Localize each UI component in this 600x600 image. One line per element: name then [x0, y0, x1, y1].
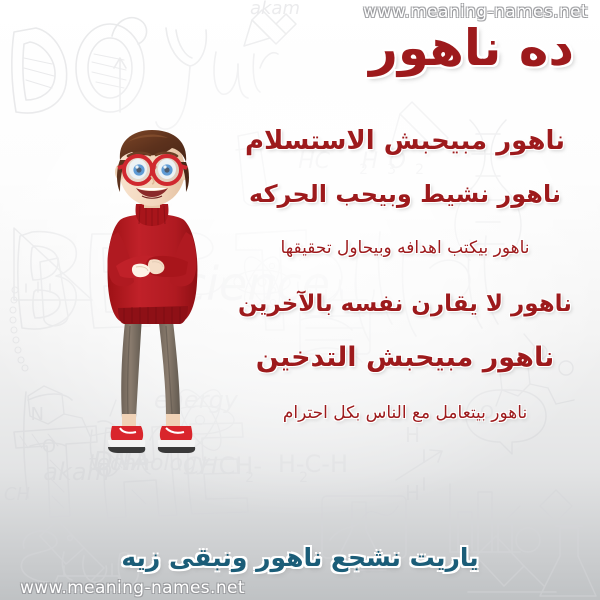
- trait-line: ناهور لا يقارن نفسه بالآخرين: [228, 293, 582, 316]
- boy-character-illustration: [62, 126, 242, 456]
- trait-line: ناهور مبيحبش الاستسلام: [228, 128, 582, 154]
- svg-text:CH: CH: [183, 452, 218, 480]
- footer-wish-text: ياريت نشجع ناهور ونبقى زيه: [0, 543, 600, 572]
- svg-text:H: H: [405, 423, 420, 447]
- svg-text:O: O: [42, 436, 56, 457]
- trait-line: ناهور بيتعامل مع الناس بكل احترام: [228, 405, 582, 422]
- svg-text:H-C-H: H-C-H: [278, 450, 348, 478]
- trait-line: ناهور نشيط وبيحب الحركه: [228, 182, 582, 206]
- svg-text:2: 2: [299, 470, 308, 486]
- trait-line: ناهور مبيحبش التدخين: [228, 344, 582, 371]
- svg-text:akam: akam: [43, 458, 110, 486]
- trait-line: ناهور بيكتب اهدافه وبيحاول تحقيقها: [228, 240, 582, 257]
- watermark-top: www.meaning-names.net: [363, 2, 588, 22]
- svg-text:-CH: -CH: [219, 452, 262, 480]
- svg-text:N: N: [31, 404, 44, 425]
- name-meaning-card: HC 2 H 3 O 2 DNA CH 2 -CH 2 H-C-H H H CH…: [0, 0, 600, 600]
- watermark-bottom: www.meaning-names.net: [20, 578, 245, 598]
- svg-text:H: H: [405, 481, 420, 505]
- svg-text:akam: akam: [250, 0, 300, 19]
- svg-text:O: O: [98, 460, 112, 481]
- page-title: ده ناهور: [369, 20, 574, 78]
- svg-text:CH: CH: [4, 484, 31, 505]
- traits-list: ناهور مبيحبش الاستسلام ناهور نشيط وبيحب …: [228, 128, 582, 422]
- svg-text:2: 2: [245, 470, 254, 486]
